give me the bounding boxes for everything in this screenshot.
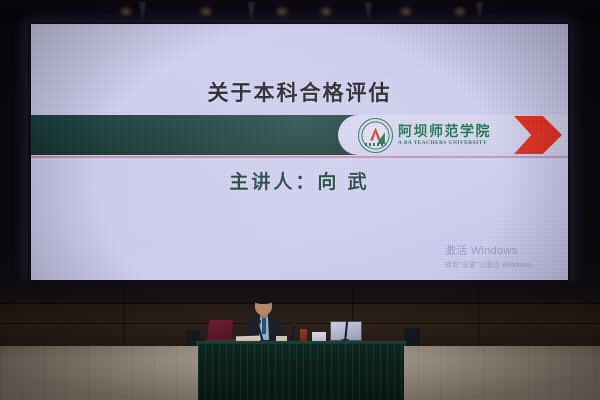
microphone-head — [345, 314, 350, 319]
watermark-line-1: 激活 Windows — [445, 242, 538, 258]
watermark-line-2: 转到"设置"以激活 Windows。 — [445, 260, 538, 270]
microphone-head — [256, 319, 261, 324]
presenter-tie — [262, 318, 266, 334]
windows-activation-watermark: 激活 Windows 转到"设置"以激活 Windows。 — [445, 242, 538, 270]
stage-panel-seam — [0, 323, 600, 324]
university-name-cn: 阿坝师范学院 — [398, 125, 491, 139]
ceiling-spotlight — [318, 5, 334, 18]
stage-panel-seam — [124, 284, 125, 346]
presenter-hair — [254, 295, 273, 304]
slide-subtitle-presenter: 主讲人：向 武 — [31, 167, 568, 194]
university-logo: 阿坝师范学院 A BA TEACHERS UNIVERSITY — [358, 117, 491, 154]
university-seal-icon — [358, 118, 393, 153]
stage-panel-seam — [478, 284, 479, 346]
table-skirt — [198, 344, 404, 400]
lecture-hall-scene: 关于本科合格评估 阿坝师范学院 A BA TEACHERS UNIVERSITY… — [0, 0, 600, 400]
seal-letter-a-shape — [370, 128, 381, 141]
stage-front-panel-middle — [0, 304, 600, 324]
ceiling-spotlight — [274, 5, 290, 18]
slide-title: 关于本科合格评估 — [31, 77, 568, 107]
microphone-head — [293, 321, 298, 326]
stage-panel-seam — [0, 303, 600, 304]
seal-waves-shape — [365, 143, 386, 146]
projection-screen: 关于本科合格评估 阿坝师范学院 A BA TEACHERS UNIVERSITY… — [31, 24, 568, 280]
ceiling-spotlight — [198, 5, 214, 18]
ceiling-spotlight — [398, 5, 414, 18]
stage-front-panel-upper — [0, 282, 600, 304]
chair — [404, 328, 420, 346]
university-name-en: A BA TEACHERS UNIVERSITY — [398, 141, 491, 146]
ceiling-spotlight — [452, 5, 468, 18]
slide-band-underline — [31, 156, 568, 158]
university-name-block: 阿坝师范学院 A BA TEACHERS UNIVERSITY — [398, 125, 491, 146]
laptop-lid — [207, 320, 233, 340]
ceiling-spotlight — [118, 5, 134, 18]
